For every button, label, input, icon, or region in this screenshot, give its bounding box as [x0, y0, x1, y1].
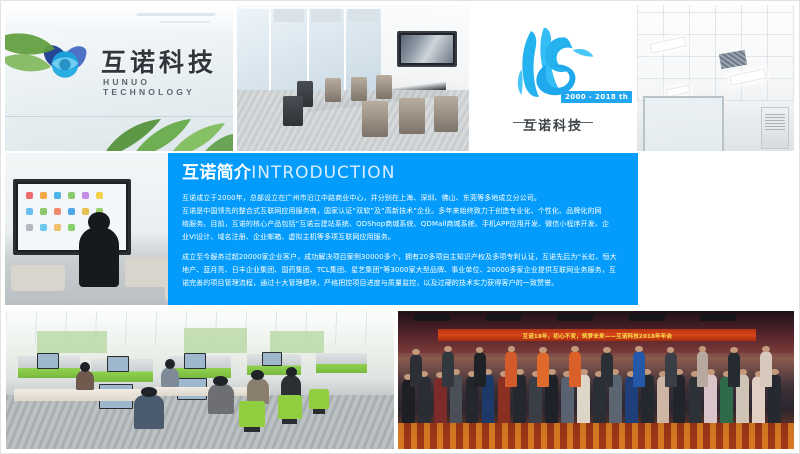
monitor-icon [107, 356, 129, 372]
gutter-bottom [1, 449, 800, 453]
gutter-v3 [633, 1, 637, 153]
gutter-v2 [469, 1, 473, 153]
air-conditioner-icon [761, 107, 789, 149]
gutter-top [1, 1, 800, 5]
chair [351, 77, 367, 101]
photo-lobby: 互诺科技 HUNUO TECHNOLOGY [5, 5, 233, 151]
window-blind-3 [348, 9, 378, 22]
gutter-v4 [394, 305, 398, 454]
chair [283, 96, 303, 126]
wall-tv-icon [397, 31, 457, 67]
photo-meeting-room [237, 5, 469, 151]
page-title: 互诺简介INTRODUCTION [182, 164, 624, 183]
window-blind-2 [311, 9, 341, 22]
office-worker [208, 384, 234, 414]
intro-p1-line-2: 互诺是中国领先的整合式互联网应用服务商，国家认证“双软”及“高新技术”企业。多年… [182, 205, 624, 218]
intro-title-cn: 互诺简介 [182, 163, 251, 183]
intro-p2-line-3: 诺完善的项目管理流程，通过十大管理模块，严格把控项目进度与质量监控，以及过硬的技… [182, 277, 624, 290]
photo-office-ceiling [637, 5, 797, 151]
intro-title-en: INTRODUCTION [251, 163, 395, 183]
desk [14, 389, 146, 400]
ceiling-tile-grid [637, 5, 797, 101]
gutter-left [1, 1, 5, 454]
photo-annual-meeting-group: 互诺18年，初心不变，筑梦未来——互诺科技2018年年会 [398, 311, 796, 451]
intro-p1-line-3: 络服务。目前，互诺的核心产品包括“互诺云建站系统、QDShop商城系统、QDMa… [182, 218, 624, 231]
chair [362, 101, 388, 137]
lobby-ceiling [5, 5, 233, 31]
chair [434, 96, 458, 132]
chair [376, 75, 392, 99]
office-chair [239, 401, 265, 427]
chair [325, 78, 341, 102]
lighting-truss [700, 314, 736, 321]
gutter-v1 [233, 1, 237, 153]
intro-p2-line-1: 成立至今服务过超20000家企业客户，成功解决项目案例30000多个，拥有20多… [182, 251, 624, 264]
banquet-carpet [398, 423, 796, 451]
window-mullion-3 [344, 9, 346, 94]
lighting-truss [629, 314, 665, 321]
seated-person [79, 227, 119, 287]
lobby-brand-en: HUNUO TECHNOLOGY [103, 77, 233, 97]
monitor-icon [37, 353, 59, 369]
lighting-truss [486, 314, 522, 321]
office-worker [134, 395, 164, 429]
window-mullion-1 [269, 9, 271, 94]
office-chair [278, 395, 302, 419]
office-carpet [6, 395, 394, 451]
office-worker [161, 367, 179, 387]
anniversary-brand-cn: 互诺科技 [473, 115, 633, 134]
intro-p1-line-4: 业VI设计、域名注册、企业邮箱、虚拟主机等多项互联网应用服务。 [182, 231, 624, 244]
green-wall-panel [270, 331, 324, 353]
intro-p2-line-2: 地产、蓝月亮、日丰企业集团、国药集团、TCL集团、星艺集团”等3000家大型品牌… [182, 264, 624, 277]
lobby-baseboard [5, 116, 233, 117]
lighting-truss [414, 314, 450, 321]
anniversary-years-badge: 2000 - 2018 th [561, 91, 632, 103]
brand-rule-right [569, 122, 593, 123]
intro-paragraph-2: 成立至今服务过超20000家企业客户，成功解决项目案例30000多个，拥有20多… [182, 251, 624, 290]
lobby-brand-cn: 互诺科技 [101, 43, 217, 79]
intro-p1-line-1: 互诺成立于2000年，总部设立在广州市沿江中路商业中心，并分别在上海、深圳、佛山… [182, 192, 624, 205]
meeting-seat [11, 265, 65, 291]
chair [399, 98, 425, 134]
company-profile-collage: 互诺科技 HUNUO TECHNOLOGY [0, 0, 800, 454]
photo-anniversary-logo: 2000 - 2018 th 互诺科技 [473, 5, 633, 151]
gutter-h2 [1, 305, 800, 311]
gutter-right [794, 1, 799, 454]
annual-meeting-banner-text: 互诺18年，初心不变，筑梦未来——互诺科技2018年年会 [522, 331, 672, 339]
cubicle-partition [316, 353, 366, 373]
green-wall-panel [37, 331, 107, 353]
window-blind-1 [274, 9, 304, 22]
intro-paragraph-1: 互诺成立于2000年，总部设立在广州市沿江中路商业中心，并分别在上海、深圳、佛山… [182, 192, 624, 244]
annual-meeting-banner: 互诺18年，初心不变，筑梦未来——互诺科技2018年年会 [438, 329, 756, 341]
lighting-truss [557, 314, 593, 321]
introduction-panel: 互诺简介INTRODUCTION 互诺成立于2000年，总部设立在广州市沿江中路… [168, 153, 638, 305]
lobby-ceiling-light-2 [159, 21, 210, 23]
lobby-ceiling-light [136, 13, 215, 16]
group-photo-crowd [398, 347, 796, 425]
monitor-icon [184, 353, 206, 369]
office-chair [309, 389, 329, 409]
glass-partition [643, 96, 724, 151]
hunuo-logo-icon [39, 41, 91, 87]
green-wall-panel [184, 328, 246, 353]
monitor-icon [262, 352, 282, 366]
photo-open-office [6, 311, 394, 451]
office-worker [76, 370, 94, 390]
